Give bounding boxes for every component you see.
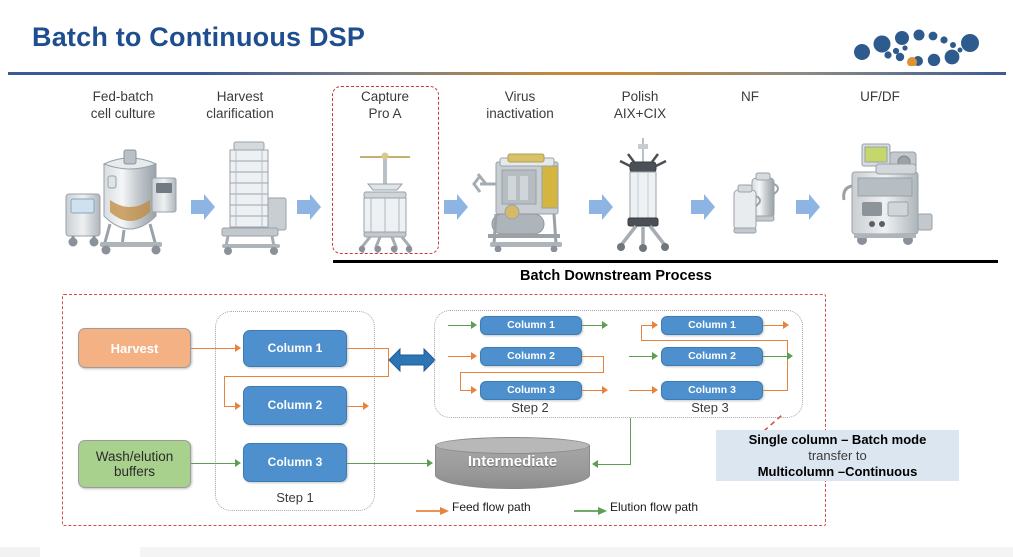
- arrowhead-icon: [471, 386, 477, 394]
- ufdf-skid-image: [832, 136, 936, 259]
- step-1-label: Step 1: [215, 490, 375, 505]
- bottom-chrome-main: [140, 547, 1013, 557]
- chevron-right-icon: [690, 192, 716, 222]
- callout-line-2: transfer to: [808, 448, 867, 464]
- intermediate-label: Intermediate: [435, 453, 590, 470]
- stage-label: Capture Pro A: [310, 88, 460, 122]
- virus-inactivation-tank-image: [468, 140, 576, 257]
- flow-step3-out-col2: [763, 356, 789, 357]
- harvest-box[interactable]: Harvest: [78, 328, 191, 368]
- step1-column-3[interactable]: Column 3: [243, 443, 347, 482]
- step2-column-2[interactable]: Column 2: [480, 347, 582, 366]
- step1-column-1[interactable]: Column 1: [243, 330, 347, 367]
- flow-step2-in-col1: [448, 325, 472, 326]
- arrowhead-icon: [592, 460, 598, 468]
- stage-label: Harvest clarification: [165, 88, 315, 122]
- flow-step2-col2-loop-down: [603, 356, 604, 372]
- step-2-label: Step 2: [460, 400, 600, 415]
- flow-return-to-intermediate-h: [596, 464, 631, 465]
- stage-label: NF: [675, 88, 825, 105]
- legend-feed-flow-arrow: [416, 503, 450, 521]
- batch-process-caption: Batch Downstream Process: [520, 268, 712, 284]
- arrowhead-icon: [471, 321, 477, 329]
- arrowhead-icon: [235, 459, 241, 467]
- flow-step3-out-col1: [763, 325, 785, 326]
- step3-column-2[interactable]: Column 2: [661, 347, 763, 366]
- arrowhead-icon: [652, 386, 658, 394]
- wash-elution-buffers-box[interactable]: Wash/elution buffers: [78, 440, 191, 488]
- flow-step3-col3-return: [763, 390, 788, 391]
- flow-step3-loop-right: [787, 340, 788, 390]
- flow-step2-col2-loop-b: [460, 372, 604, 373]
- callout-line-3: Multicolumn –Continuous: [758, 464, 918, 480]
- flow-harvest-to-col1: [191, 348, 236, 349]
- callout-line-1: Single column – Batch mode: [749, 432, 927, 448]
- flow-return-to-intermediate-v: [630, 418, 631, 464]
- chevron-right-icon: [443, 192, 469, 222]
- flow-step3-loop-left: [641, 325, 642, 340]
- arrowhead-icon: [652, 321, 658, 329]
- flow-step3-loop-bottom: [641, 340, 788, 341]
- flow-step2-col2-loop-r: [582, 356, 604, 357]
- stage-harvest-clarification: Harvest clarification: [165, 88, 315, 122]
- arrowhead-icon: [602, 386, 608, 394]
- legend-feed-flow-label: Feed flow path: [452, 500, 531, 514]
- step3-column-1[interactable]: Column 1: [661, 316, 763, 335]
- batch-process-underline: [333, 260, 998, 263]
- legend-elution-flow-arrow: [574, 503, 608, 521]
- arrowhead-icon: [652, 352, 658, 360]
- legend-elution-flow-label: Elution flow path: [610, 500, 698, 514]
- arrowhead-icon: [602, 321, 608, 329]
- step3-column-3[interactable]: Column 3: [661, 381, 763, 400]
- stage-label: UF/DF: [805, 88, 955, 105]
- callout-box: Single column – Batch mode transfer to M…: [716, 430, 959, 481]
- flow-step2-out-col3: [582, 390, 604, 391]
- arrowhead-icon: [787, 352, 793, 360]
- arrowhead-icon: [363, 402, 369, 410]
- nanofilter-capsules-image: [728, 172, 784, 243]
- depth-filter-stack-image: [212, 140, 290, 260]
- double-headed-arrow-icon: [388, 346, 436, 374]
- flow-buffers-to-col3: [191, 463, 236, 464]
- intermediate-vessel[interactable]: Intermediate: [435, 437, 590, 493]
- arrowhead-icon: [235, 344, 241, 352]
- header-divider-rule: [8, 72, 1006, 75]
- flow-step3-in-col2: [629, 356, 653, 357]
- step-3-label: Step 3: [640, 400, 780, 415]
- chevron-right-icon: [795, 192, 821, 222]
- flow-step2-out-col1: [582, 325, 604, 326]
- arrowhead-icon: [235, 402, 241, 410]
- step1-column-2[interactable]: Column 2: [243, 386, 347, 425]
- flow-col1-loop-top: [347, 348, 389, 349]
- flow-step2-col2-loop-left: [460, 372, 461, 390]
- bottom-chrome-left: [0, 547, 40, 557]
- arrowhead-icon: [783, 321, 789, 329]
- page-title: Batch to Continuous DSP: [32, 22, 365, 53]
- stage-capture-pro-a: Capture Pro A: [310, 88, 460, 122]
- polishing-column-image: [608, 136, 678, 259]
- company-dot-helix-logo: [848, 14, 980, 66]
- stage-uf-df: UF/DF: [805, 88, 955, 105]
- chromatography-column-skid-image: [348, 148, 422, 258]
- arrowhead-icon: [471, 352, 477, 360]
- flow-step3-in-col3: [629, 390, 653, 391]
- flow-col3-to-intermediate: [347, 463, 431, 464]
- flow-col1-loop-bottom: [224, 376, 389, 377]
- arrowhead-icon: [427, 459, 433, 467]
- stage-nf: NF: [675, 88, 825, 105]
- bioreactor-vessel-image: [64, 138, 184, 261]
- chevron-right-icon: [296, 192, 322, 222]
- intermediate-cylinder-top: [435, 437, 590, 454]
- flow-step2-in-col2: [448, 356, 472, 357]
- step2-column-1[interactable]: Column 1: [480, 316, 582, 335]
- step2-column-3[interactable]: Column 3: [480, 381, 582, 400]
- flow-col1-loop-left: [224, 376, 225, 406]
